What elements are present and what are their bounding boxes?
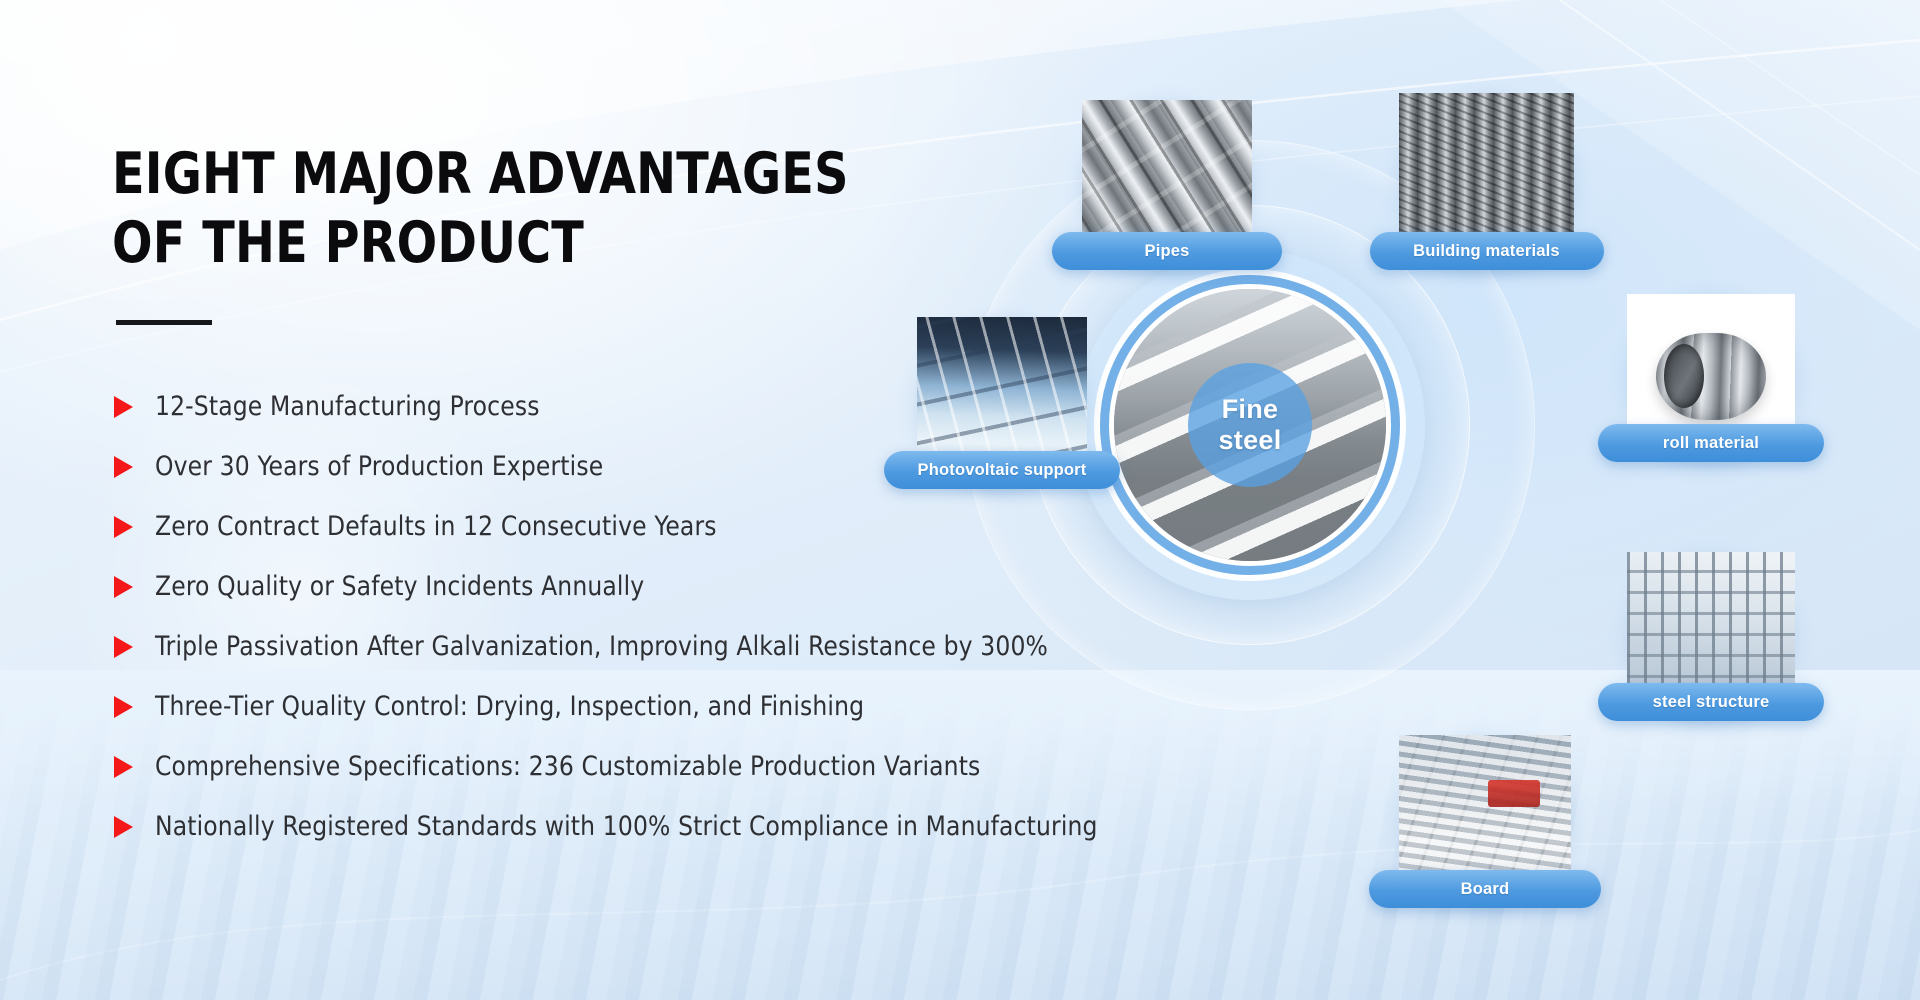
badge-label: Photovoltaic support (884, 451, 1120, 489)
badge-label: steel structure (1598, 683, 1824, 721)
arrow-right-icon (114, 576, 133, 598)
advantage-text: Over 30 Years of Production Expertise (155, 451, 603, 482)
badge-photo (1417, 753, 1553, 889)
badge-label: Board (1369, 870, 1601, 908)
content-column: EIGHT MAJOR ADVANTAGES OF THE PRODUCT 12… (112, 140, 1172, 857)
arrow-right-icon (114, 396, 133, 418)
product-badge-roll-material[interactable]: roll material (1627, 294, 1795, 462)
title-underline-rule (116, 320, 212, 325)
arrow-right-icon (114, 636, 133, 658)
solar-mounting-rails-image (935, 335, 1069, 469)
product-badge-building-materials[interactable]: Building materials (1399, 93, 1574, 268)
advantage-text: Zero Quality or Safety Incidents Annuall… (155, 571, 644, 602)
advantage-text: Nationally Registered Standards with 100… (155, 811, 1098, 842)
slide-canvas: EIGHT MAJOR ADVANTAGES OF THE PRODUCT 12… (0, 0, 1920, 1000)
product-badge-board[interactable]: Board (1399, 735, 1571, 907)
list-item: Zero Contract Defaults in 12 Consecutive… (112, 497, 1172, 557)
rebar-bundle-image (1418, 112, 1556, 250)
steel-board-stockyard-image (1417, 753, 1553, 889)
arrow-right-icon (114, 816, 133, 838)
badge-photo (935, 335, 1069, 469)
page-title: EIGHT MAJOR ADVANTAGES OF THE PRODUCT (112, 140, 1098, 278)
badge-photo (1418, 112, 1556, 250)
list-item: Triple Passivation After Galvanization, … (112, 617, 1172, 677)
list-item: Three-Tier Quality Control: Drying, Insp… (112, 677, 1172, 737)
advantage-text: Comprehensive Specifications: 236 Custom… (155, 751, 980, 782)
arrow-right-icon (114, 516, 133, 538)
badge-label: Pipes (1052, 232, 1282, 270)
advantage-text: 12-Stage Manufacturing Process (155, 391, 540, 422)
list-item: Nationally Registered Standards with 100… (112, 797, 1172, 857)
list-item: Zero Quality or Safety Incidents Annuall… (112, 557, 1172, 617)
arrow-right-icon (114, 456, 133, 478)
product-badge-photovoltaic-support[interactable]: Photovoltaic support (917, 317, 1087, 487)
list-item: Comprehensive Specifications: 236 Custom… (112, 737, 1172, 797)
advantage-text: Three-Tier Quality Control: Drying, Insp… (155, 691, 864, 722)
badge-label: roll material (1598, 424, 1824, 462)
arrow-right-icon (114, 756, 133, 778)
hub-label: Fine steel (1188, 363, 1312, 487)
product-badge-pipes[interactable]: Pipes (1082, 100, 1252, 270)
arrow-right-icon (114, 696, 133, 718)
product-badge-steel-structure[interactable]: steel structure (1627, 552, 1795, 720)
advantage-text: Zero Contract Defaults in 12 Consecutive… (155, 511, 717, 542)
badge-label: Building materials (1370, 232, 1604, 270)
hub-fine-steel[interactable]: Fine steel (1075, 250, 1425, 600)
advantage-text: Triple Passivation After Galvanization, … (155, 631, 1048, 662)
